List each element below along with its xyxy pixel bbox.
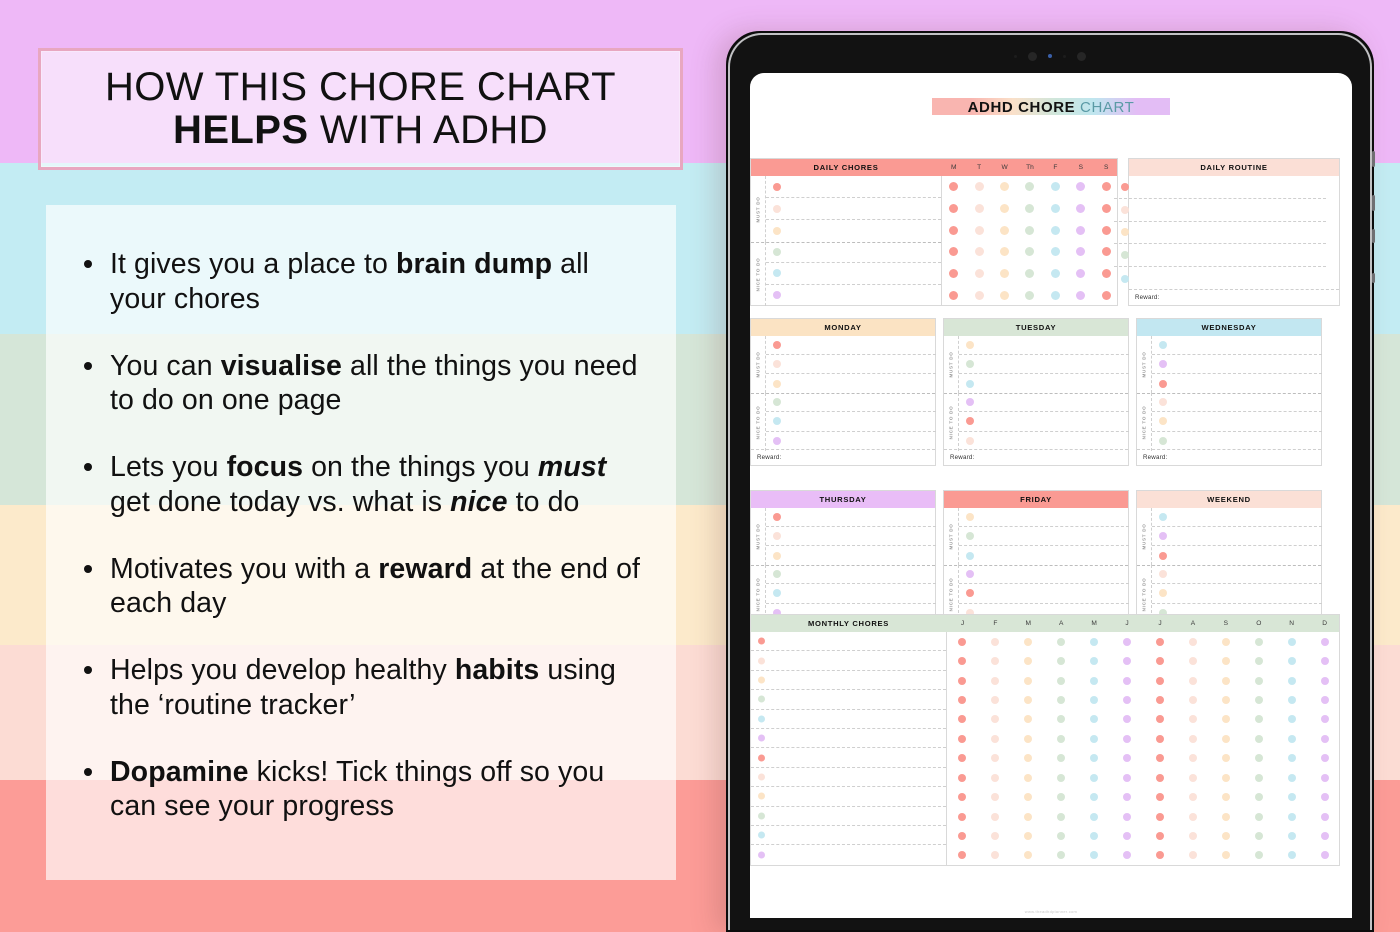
reward-field[interactable]: Reward:: [944, 449, 1128, 465]
task-row[interactable]: [751, 710, 946, 729]
dot-cell[interactable]: [1144, 638, 1177, 646]
dot-cell[interactable]: [1111, 638, 1144, 646]
checkbox-dot[interactable]: [1057, 793, 1065, 801]
dot-cell[interactable]: [1111, 813, 1144, 821]
checkbox-dot[interactable]: [1090, 774, 1098, 782]
dot-cell[interactable]: [1242, 715, 1275, 723]
dot-cell[interactable]: [1111, 793, 1144, 801]
dot-cell[interactable]: [1176, 793, 1209, 801]
checkbox-dot[interactable]: [1090, 851, 1098, 859]
dot-cell[interactable]: [1017, 226, 1042, 235]
task-row[interactable]: [959, 584, 1129, 603]
checkbox-dot[interactable]: [1123, 774, 1131, 782]
dot-cell[interactable]: [992, 269, 1017, 278]
dot-cell[interactable]: [1308, 832, 1341, 840]
checkbox-dot[interactable]: [1090, 657, 1098, 665]
checkbox-dot[interactable]: [1156, 638, 1164, 646]
checkbox-dot[interactable]: [1090, 813, 1098, 821]
checkbox-dot[interactable]: [991, 851, 999, 859]
dot-cell[interactable]: [1017, 269, 1042, 278]
dot-cell[interactable]: [1176, 851, 1209, 859]
dot-cell[interactable]: [946, 793, 979, 801]
dot-cell[interactable]: [946, 754, 979, 762]
checkbox-dot[interactable]: [1123, 677, 1131, 685]
dot-cell[interactable]: [1068, 182, 1093, 191]
checkbox-dot[interactable]: [1057, 813, 1065, 821]
checkbox-dot[interactable]: [1057, 638, 1065, 646]
dot-cell[interactable]: [979, 677, 1012, 685]
task-row[interactable]: [1152, 355, 1322, 374]
checkbox-dot[interactable]: [1222, 832, 1230, 840]
task-row[interactable]: [751, 768, 946, 787]
checkbox-dot[interactable]: [1255, 851, 1263, 859]
reward-field[interactable]: Reward:: [1137, 449, 1321, 465]
checkbox-dot[interactable]: [1321, 813, 1329, 821]
dot-cell[interactable]: [1043, 182, 1068, 191]
checkbox-dot[interactable]: [1288, 677, 1296, 685]
dot-cell[interactable]: [1275, 696, 1308, 704]
dot-cell[interactable]: [1176, 754, 1209, 762]
checkbox-dot[interactable]: [1000, 269, 1009, 278]
checkbox-dot[interactable]: [1321, 754, 1329, 762]
dot-cell[interactable]: [1111, 677, 1144, 685]
task-row[interactable]: [766, 584, 936, 603]
dot-cell[interactable]: [1012, 754, 1045, 762]
dot-cell[interactable]: [966, 226, 991, 235]
task-row[interactable]: [1152, 546, 1322, 565]
task-row[interactable]: [1114, 199, 1326, 222]
dot-cell[interactable]: [1176, 696, 1209, 704]
dot-cell[interactable]: [992, 226, 1017, 235]
dot-cell[interactable]: [1242, 793, 1275, 801]
dot-cell[interactable]: [1012, 735, 1045, 743]
dot-cell[interactable]: [1012, 657, 1045, 665]
dot-cell[interactable]: [1012, 813, 1045, 821]
dot-cell[interactable]: [1045, 696, 1078, 704]
dot-cell[interactable]: [946, 735, 979, 743]
checkbox-dot[interactable]: [1057, 832, 1065, 840]
dot-cell[interactable]: [1017, 182, 1042, 191]
dot-cell[interactable]: [1242, 813, 1275, 821]
checkbox-dot[interactable]: [1025, 226, 1034, 235]
dot-cell[interactable]: [1275, 754, 1308, 762]
dot-cell[interactable]: [1078, 851, 1111, 859]
dot-cell[interactable]: [1275, 735, 1308, 743]
task-row[interactable]: [959, 565, 1129, 584]
dot-cell[interactable]: [946, 774, 979, 782]
checkbox-dot[interactable]: [1090, 832, 1098, 840]
checkbox-dot[interactable]: [1222, 677, 1230, 685]
task-row[interactable]: [751, 787, 946, 806]
dot-cell[interactable]: [1012, 851, 1045, 859]
checkbox-dot[interactable]: [1057, 677, 1065, 685]
checkbox-dot[interactable]: [1321, 793, 1329, 801]
dot-cell[interactable]: [1078, 832, 1111, 840]
dot-cell[interactable]: [1045, 638, 1078, 646]
dot-cell[interactable]: [1209, 696, 1242, 704]
checkbox-dot[interactable]: [1076, 247, 1085, 256]
task-row[interactable]: [766, 546, 936, 565]
task-row[interactable]: [959, 546, 1129, 565]
checkbox-dot[interactable]: [1156, 677, 1164, 685]
dot-cell[interactable]: [1017, 291, 1042, 300]
checkbox-dot[interactable]: [1025, 182, 1034, 191]
checkbox-dot[interactable]: [975, 269, 984, 278]
task-row[interactable]: [751, 632, 946, 651]
dot-cell[interactable]: [1045, 735, 1078, 743]
checkbox-dot[interactable]: [1189, 735, 1197, 743]
checkbox-dot[interactable]: [1288, 774, 1296, 782]
task-row[interactable]: [959, 374, 1129, 393]
checkbox-dot[interactable]: [958, 677, 966, 685]
checkbox-dot[interactable]: [991, 774, 999, 782]
dot-cell[interactable]: [1209, 677, 1242, 685]
task-row[interactable]: [959, 508, 1129, 527]
checkbox-dot[interactable]: [1102, 182, 1111, 191]
task-row[interactable]: [1114, 244, 1326, 267]
checkbox-dot[interactable]: [949, 291, 958, 300]
checkbox-dot[interactable]: [991, 677, 999, 685]
checkbox-dot[interactable]: [1255, 715, 1263, 723]
task-row[interactable]: [766, 220, 941, 242]
dot-cell[interactable]: [946, 638, 979, 646]
checkbox-dot[interactable]: [958, 851, 966, 859]
dot-cell[interactable]: [1275, 774, 1308, 782]
checkbox-dot[interactable]: [1288, 851, 1296, 859]
reward-field[interactable]: Reward:: [751, 449, 935, 465]
dot-cell[interactable]: [1111, 735, 1144, 743]
task-row[interactable]: [1152, 374, 1322, 393]
dot-cell[interactable]: [1111, 754, 1144, 762]
dot-cell[interactable]: [1176, 657, 1209, 665]
task-row[interactable]: [766, 527, 936, 546]
checkbox-dot[interactable]: [1090, 793, 1098, 801]
checkbox-dot[interactable]: [1156, 715, 1164, 723]
task-row[interactable]: [751, 807, 946, 826]
task-row[interactable]: [751, 845, 946, 864]
dot-cell[interactable]: [1242, 832, 1275, 840]
reward-field[interactable]: Reward:: [1129, 289, 1339, 305]
checkbox-dot[interactable]: [991, 638, 999, 646]
checkbox-dot[interactable]: [1000, 204, 1009, 213]
checkbox-dot[interactable]: [1024, 754, 1032, 762]
dot-cell[interactable]: [1209, 793, 1242, 801]
dot-cell[interactable]: [1176, 677, 1209, 685]
dot-cell[interactable]: [1078, 715, 1111, 723]
dot-cell[interactable]: [966, 269, 991, 278]
dot-cell[interactable]: [1209, 832, 1242, 840]
dot-cell[interactable]: [1078, 754, 1111, 762]
dot-cell[interactable]: [979, 715, 1012, 723]
task-row[interactable]: [766, 508, 936, 527]
dot-cell[interactable]: [1176, 638, 1209, 646]
dot-cell[interactable]: [1275, 832, 1308, 840]
checkbox-dot[interactable]: [1189, 657, 1197, 665]
dot-cell[interactable]: [941, 269, 966, 278]
task-row[interactable]: [1152, 565, 1322, 584]
dot-cell[interactable]: [1308, 813, 1341, 821]
dot-cell[interactable]: [1045, 813, 1078, 821]
dot-cell[interactable]: [941, 204, 966, 213]
checkbox-dot[interactable]: [1222, 774, 1230, 782]
checkbox-dot[interactable]: [1156, 774, 1164, 782]
checkbox-dot[interactable]: [1156, 851, 1164, 859]
dot-cell[interactable]: [1275, 638, 1308, 646]
dot-cell[interactable]: [1144, 832, 1177, 840]
checkbox-dot[interactable]: [1123, 851, 1131, 859]
checkbox-dot[interactable]: [1321, 715, 1329, 723]
checkbox-dot[interactable]: [1057, 735, 1065, 743]
checkbox-dot[interactable]: [1288, 813, 1296, 821]
checkbox-dot[interactable]: [1057, 696, 1065, 704]
checkbox-dot[interactable]: [958, 832, 966, 840]
checkbox-dot[interactable]: [1090, 715, 1098, 723]
task-row[interactable]: [751, 671, 946, 690]
dot-cell[interactable]: [1078, 735, 1111, 743]
power-button[interactable]: [1372, 229, 1375, 243]
checkbox-dot[interactable]: [1024, 715, 1032, 723]
dot-cell[interactable]: [1045, 677, 1078, 685]
checkbox-dot[interactable]: [1025, 269, 1034, 278]
checkbox-dot[interactable]: [1076, 291, 1085, 300]
checkbox-dot[interactable]: [1222, 851, 1230, 859]
dot-cell[interactable]: [1209, 851, 1242, 859]
checkbox-dot[interactable]: [991, 793, 999, 801]
checkbox-dot[interactable]: [1057, 657, 1065, 665]
dot-cell[interactable]: [1144, 715, 1177, 723]
dot-cell[interactable]: [1209, 774, 1242, 782]
dot-cell[interactable]: [966, 182, 991, 191]
dot-cell[interactable]: [979, 657, 1012, 665]
checkbox-dot[interactable]: [949, 226, 958, 235]
dot-cell[interactable]: [1078, 793, 1111, 801]
checkbox-dot[interactable]: [1288, 696, 1296, 704]
checkbox-dot[interactable]: [1024, 638, 1032, 646]
dot-cell[interactable]: [1308, 735, 1341, 743]
checkbox-dot[interactable]: [1090, 638, 1098, 646]
dot-cell[interactable]: [1043, 226, 1068, 235]
checkbox-dot[interactable]: [1321, 638, 1329, 646]
checkbox-dot[interactable]: [1090, 696, 1098, 704]
dot-cell[interactable]: [941, 291, 966, 300]
checkbox-dot[interactable]: [1123, 735, 1131, 743]
dot-cell[interactable]: [979, 851, 1012, 859]
checkbox-dot[interactable]: [1123, 832, 1131, 840]
checkbox-dot[interactable]: [1102, 204, 1111, 213]
checkbox-dot[interactable]: [1321, 774, 1329, 782]
volume-button-up[interactable]: [1372, 151, 1375, 167]
dot-cell[interactable]: [1068, 204, 1093, 213]
checkbox-dot[interactable]: [1288, 657, 1296, 665]
dot-cell[interactable]: [1017, 204, 1042, 213]
checkbox-dot[interactable]: [975, 247, 984, 256]
dot-cell[interactable]: [946, 813, 979, 821]
dot-cell[interactable]: [1111, 696, 1144, 704]
checkbox-dot[interactable]: [1222, 657, 1230, 665]
dot-cell[interactable]: [1308, 774, 1341, 782]
checkbox-dot[interactable]: [1000, 247, 1009, 256]
dot-cell[interactable]: [1068, 226, 1093, 235]
checkbox-dot[interactable]: [1156, 657, 1164, 665]
dot-cell[interactable]: [1144, 677, 1177, 685]
checkbox-dot[interactable]: [1288, 793, 1296, 801]
dot-cell[interactable]: [1308, 657, 1341, 665]
task-row[interactable]: [1152, 336, 1322, 355]
checkbox-dot[interactable]: [958, 638, 966, 646]
dot-cell[interactable]: [1078, 638, 1111, 646]
task-row[interactable]: [766, 374, 936, 393]
checkbox-dot[interactable]: [1189, 696, 1197, 704]
task-row[interactable]: [751, 826, 946, 845]
dot-cell[interactable]: [1012, 696, 1045, 704]
checkbox-dot[interactable]: [1025, 291, 1034, 300]
dot-cell[interactable]: [966, 204, 991, 213]
checkbox-dot[interactable]: [958, 735, 966, 743]
dot-cell[interactable]: [1078, 813, 1111, 821]
checkbox-dot[interactable]: [1123, 638, 1131, 646]
dot-cell[interactable]: [1275, 851, 1308, 859]
dot-cell[interactable]: [1012, 832, 1045, 840]
dot-cell[interactable]: [1209, 657, 1242, 665]
checkbox-dot[interactable]: [1102, 247, 1111, 256]
dot-cell[interactable]: [1144, 657, 1177, 665]
dot-cell[interactable]: [992, 204, 1017, 213]
dot-cell[interactable]: [1078, 774, 1111, 782]
dot-cell[interactable]: [966, 291, 991, 300]
checkbox-dot[interactable]: [1090, 754, 1098, 762]
dot-cell[interactable]: [1045, 851, 1078, 859]
dot-cell[interactable]: [1094, 291, 1119, 300]
task-row[interactable]: [1152, 527, 1322, 546]
dot-cell[interactable]: [1242, 754, 1275, 762]
dot-cell[interactable]: [1242, 696, 1275, 704]
checkbox-dot[interactable]: [1288, 754, 1296, 762]
task-row[interactable]: [1152, 508, 1322, 527]
dot-cell[interactable]: [979, 638, 1012, 646]
dot-cell[interactable]: [992, 291, 1017, 300]
dot-cell[interactable]: [1308, 696, 1341, 704]
checkbox-dot[interactable]: [1288, 735, 1296, 743]
dot-cell[interactable]: [1308, 715, 1341, 723]
checkbox-dot[interactable]: [958, 754, 966, 762]
dot-cell[interactable]: [1144, 774, 1177, 782]
dot-cell[interactable]: [1209, 638, 1242, 646]
checkbox-dot[interactable]: [1102, 226, 1111, 235]
dot-cell[interactable]: [1176, 715, 1209, 723]
dot-cell[interactable]: [1242, 677, 1275, 685]
checkbox-dot[interactable]: [1189, 813, 1197, 821]
checkbox-dot[interactable]: [991, 813, 999, 821]
dot-cell[interactable]: [1045, 657, 1078, 665]
dot-cell[interactable]: [1176, 735, 1209, 743]
dot-cell[interactable]: [1209, 735, 1242, 743]
checkbox-dot[interactable]: [1051, 182, 1060, 191]
task-row[interactable]: [1152, 584, 1322, 603]
checkbox-dot[interactable]: [1102, 291, 1111, 300]
checkbox-dot[interactable]: [1000, 291, 1009, 300]
dot-cell[interactable]: [946, 677, 979, 685]
dot-cell[interactable]: [992, 182, 1017, 191]
task-row[interactable]: [766, 412, 936, 431]
checkbox-dot[interactable]: [1189, 793, 1197, 801]
dot-cell[interactable]: [1111, 774, 1144, 782]
dot-cell[interactable]: [979, 832, 1012, 840]
checkbox-dot[interactable]: [975, 182, 984, 191]
task-row[interactable]: [766, 355, 936, 374]
checkbox-dot[interactable]: [1222, 793, 1230, 801]
checkbox-dot[interactable]: [1222, 638, 1230, 646]
task-row[interactable]: [766, 285, 941, 306]
checkbox-dot[interactable]: [1057, 715, 1065, 723]
checkbox-dot[interactable]: [1321, 851, 1329, 859]
dot-cell[interactable]: [1308, 677, 1341, 685]
checkbox-dot[interactable]: [1255, 774, 1263, 782]
checkbox-dot[interactable]: [958, 774, 966, 782]
checkbox-dot[interactable]: [1321, 832, 1329, 840]
checkbox-dot[interactable]: [958, 793, 966, 801]
dot-cell[interactable]: [1043, 247, 1068, 256]
task-row[interactable]: [751, 729, 946, 748]
dot-cell[interactable]: [1111, 657, 1144, 665]
dot-cell[interactable]: [1242, 735, 1275, 743]
checkbox-dot[interactable]: [1090, 735, 1098, 743]
checkbox-dot[interactable]: [1255, 754, 1263, 762]
dot-cell[interactable]: [979, 735, 1012, 743]
dot-cell[interactable]: [979, 793, 1012, 801]
checkbox-dot[interactable]: [1288, 715, 1296, 723]
dot-cell[interactable]: [1176, 774, 1209, 782]
dot-cell[interactable]: [1308, 638, 1341, 646]
dot-cell[interactable]: [941, 182, 966, 191]
checkbox-dot[interactable]: [1090, 677, 1098, 685]
dot-cell[interactable]: [1045, 832, 1078, 840]
dot-cell[interactable]: [1308, 793, 1341, 801]
checkbox-dot[interactable]: [1255, 677, 1263, 685]
checkbox-dot[interactable]: [1222, 715, 1230, 723]
task-row[interactable]: [766, 198, 941, 220]
checkbox-dot[interactable]: [991, 754, 999, 762]
task-row[interactable]: [766, 393, 936, 412]
checkbox-dot[interactable]: [1024, 851, 1032, 859]
dot-cell[interactable]: [1045, 774, 1078, 782]
checkbox-dot[interactable]: [949, 204, 958, 213]
checkbox-dot[interactable]: [1156, 696, 1164, 704]
checkbox-dot[interactable]: [1255, 735, 1263, 743]
checkbox-dot[interactable]: [1156, 793, 1164, 801]
dot-cell[interactable]: [946, 696, 979, 704]
checkbox-dot[interactable]: [1255, 638, 1263, 646]
checkbox-dot[interactable]: [1024, 696, 1032, 704]
dot-cell[interactable]: [1012, 638, 1045, 646]
dot-cell[interactable]: [1144, 735, 1177, 743]
dot-cell[interactable]: [1078, 696, 1111, 704]
checkbox-dot[interactable]: [1189, 832, 1197, 840]
dot-cell[interactable]: [1111, 715, 1144, 723]
checkbox-dot[interactable]: [1189, 715, 1197, 723]
checkbox-dot[interactable]: [1189, 754, 1197, 762]
checkbox-dot[interactable]: [1051, 247, 1060, 256]
dot-cell[interactable]: [1012, 774, 1045, 782]
dot-cell[interactable]: [1176, 813, 1209, 821]
checkbox-dot[interactable]: [1024, 657, 1032, 665]
task-row[interactable]: [1152, 393, 1322, 412]
task-row[interactable]: [959, 355, 1129, 374]
task-row[interactable]: [1114, 267, 1326, 290]
checkbox-dot[interactable]: [991, 735, 999, 743]
dot-cell[interactable]: [1144, 696, 1177, 704]
dot-cell[interactable]: [1144, 813, 1177, 821]
dot-cell[interactable]: [1012, 715, 1045, 723]
